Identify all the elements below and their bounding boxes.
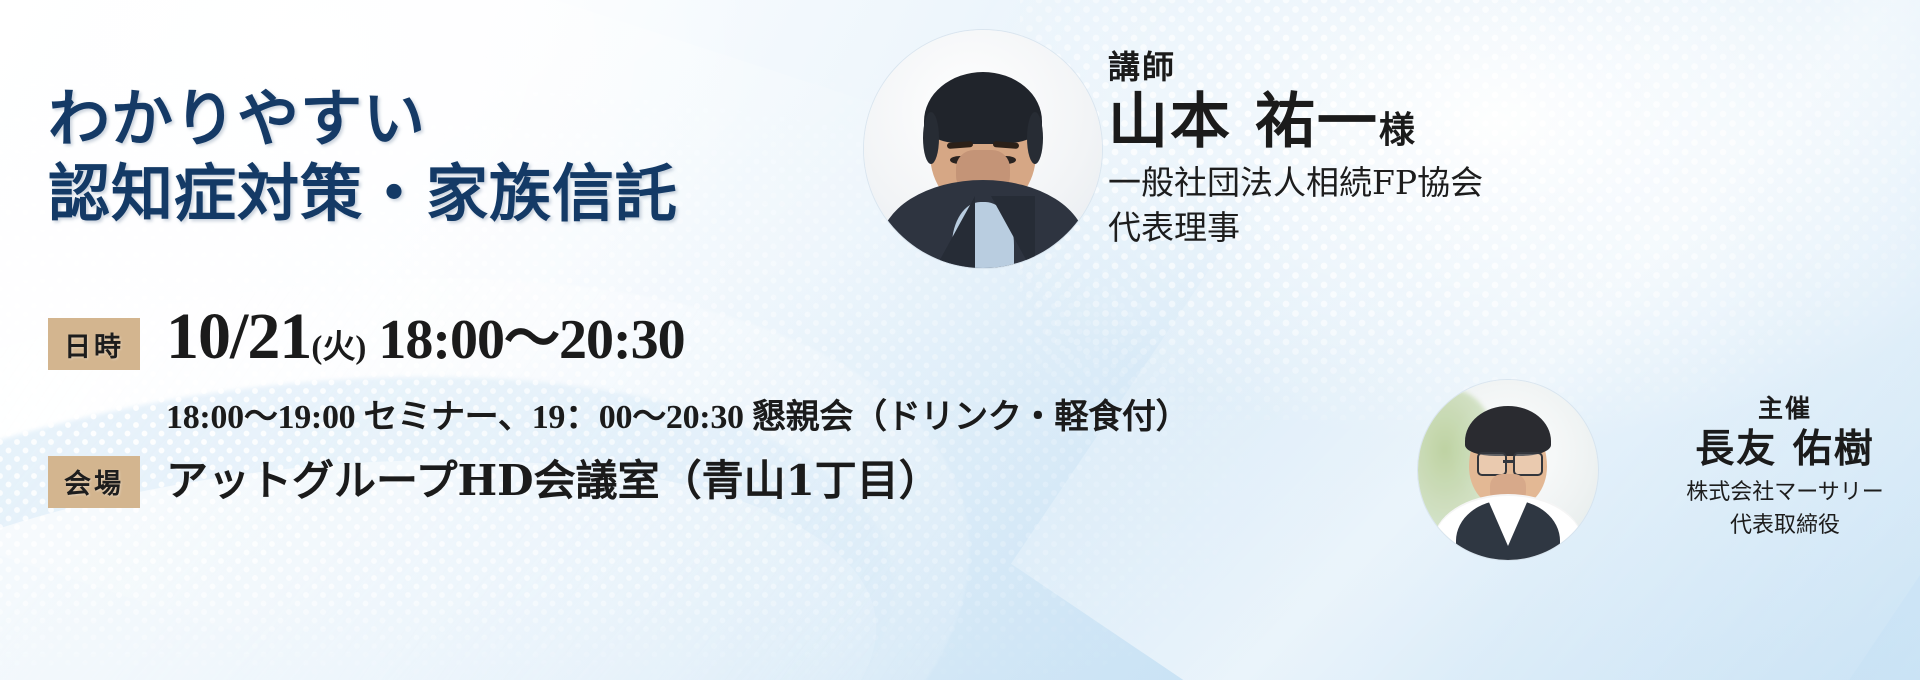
date-row: 日時 10/21(火)18:00〜20:30 <box>48 318 1098 379</box>
host-portrait-illustration <box>1418 380 1598 560</box>
speaker-hair-right <box>1027 112 1043 164</box>
speaker-org-line-1: 一般社団法人相続FP協会 <box>1108 162 1578 203</box>
speaker-hair-left <box>923 112 939 164</box>
speaker-photo <box>864 30 1102 268</box>
speaker-name-group: 山本 祐一様 <box>1108 87 1578 158</box>
page-title: わかりやすい 認知症対策・家族信託 <box>48 86 678 228</box>
seminar-banner: わかりやすい 認知症対策・家族信託 日時 10/21(火)18:00〜20:30… <box>0 0 1920 680</box>
venue-badge: 会場 <box>48 456 140 508</box>
speaker-hair <box>924 72 1042 144</box>
speaker-lapel-right <box>991 196 1035 268</box>
schedule-detail: 18:00〜19:00 セミナー、19：00〜20:30 懇親会（ドリンク・軽食… <box>166 389 1098 438</box>
speaker-role-label: 講師 <box>1108 50 1578 85</box>
venue-value: アットグループHD会議室（青山1丁目） <box>166 458 941 504</box>
speaker-portrait-illustration <box>864 30 1102 268</box>
date-badge: 日時 <box>48 318 140 370</box>
title-line-2: 認知症対策・家族信託 <box>48 161 678 228</box>
speaker-lapel-left <box>931 196 975 268</box>
host-org-line-1: 株式会社マーサリー <box>1655 479 1915 508</box>
host-glasses-left-lens <box>1477 452 1507 476</box>
title-line-1: わかりやすい <box>48 86 678 153</box>
host-glasses-bridge <box>1503 460 1513 463</box>
date-value: 10/21 <box>166 300 311 373</box>
speaker-name: 山本 祐一 <box>1108 87 1379 157</box>
speaker-org-line-2: 代表理事 <box>1108 207 1578 248</box>
speaker-info: 講師 山本 祐一様 一般社団法人相続FP協会 代表理事 <box>1108 50 1578 248</box>
event-details: 日時 10/21(火)18:00〜20:30 18:00〜19:00 セミナー、… <box>48 318 1098 508</box>
host-glasses-right-lens <box>1513 452 1543 476</box>
date-day-of-week: (火) <box>311 330 366 366</box>
host-photo <box>1418 380 1598 560</box>
date-value-group: 10/21(火)18:00〜20:30 <box>166 307 685 368</box>
speaker-honorific: 様 <box>1379 109 1415 151</box>
host-info: 主催 長友 佑樹 株式会社マーサリー 代表取締役 <box>1655 395 1915 541</box>
venue-row: 会場 アットグループHD会議室（青山1丁目） <box>48 456 1098 508</box>
date-time-range: 18:00〜20:30 <box>378 309 684 371</box>
host-name: 長友 佑樹 <box>1655 425 1915 474</box>
host-org-line-2: 代表取締役 <box>1655 512 1915 541</box>
host-role-label: 主催 <box>1655 395 1915 424</box>
